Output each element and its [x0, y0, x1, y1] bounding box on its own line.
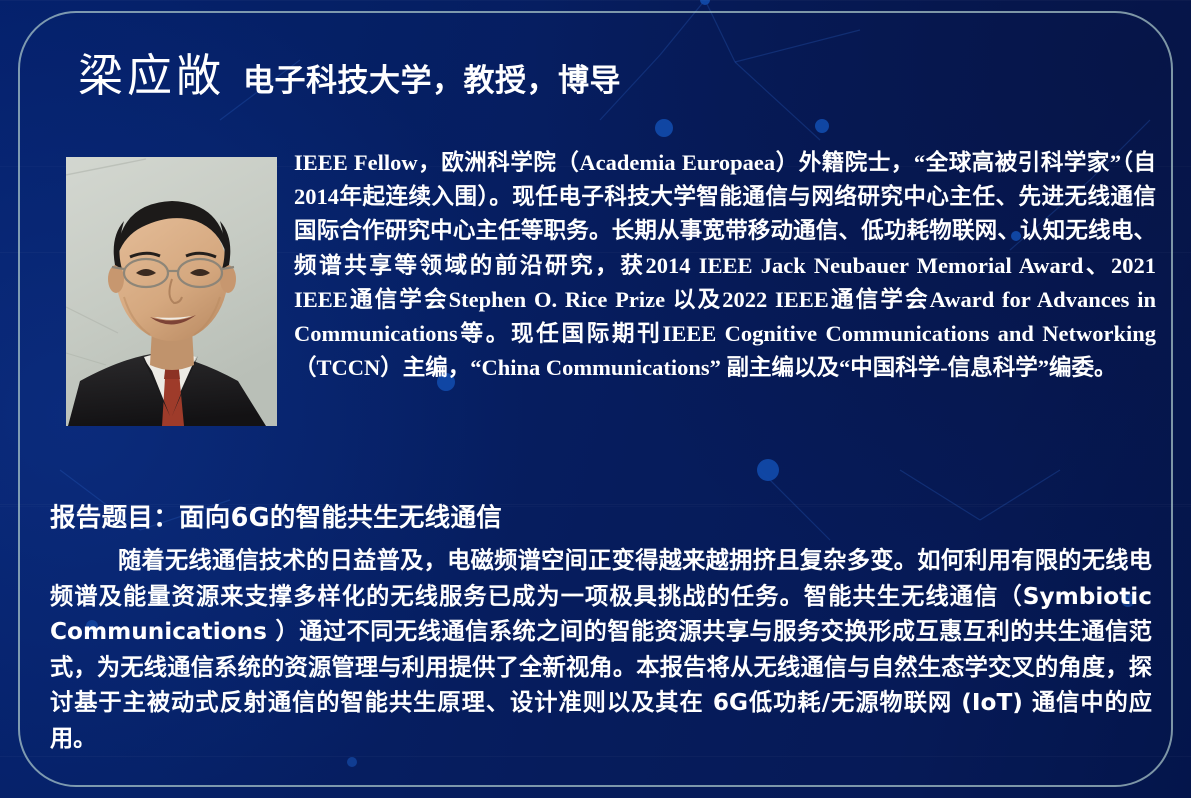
speaker-name: 梁应敞 [78, 54, 225, 99]
talk-title: 报告题目：面向6G的智能共生无线通信 [50, 497, 502, 534]
speaker-affiliation: 电子科技大学，教授，博导 [243, 66, 621, 97]
speaker-portrait-photo [66, 157, 277, 426]
speaker-biography: IEEE Fellow，欧洲科学院（Academia Europaea）外籍院士… [294, 146, 1156, 385]
speaker-header: 梁应敞 电子科技大学，教授，博导 [78, 54, 621, 99]
speaker-profile-slide: 梁应敞 电子科技大学，教授，博导 [0, 0, 1191, 798]
talk-abstract: 随着无线通信技术的日益普及，电磁频谱空间正变得越来越拥挤且复杂多变。如何利用有限… [50, 543, 1152, 757]
